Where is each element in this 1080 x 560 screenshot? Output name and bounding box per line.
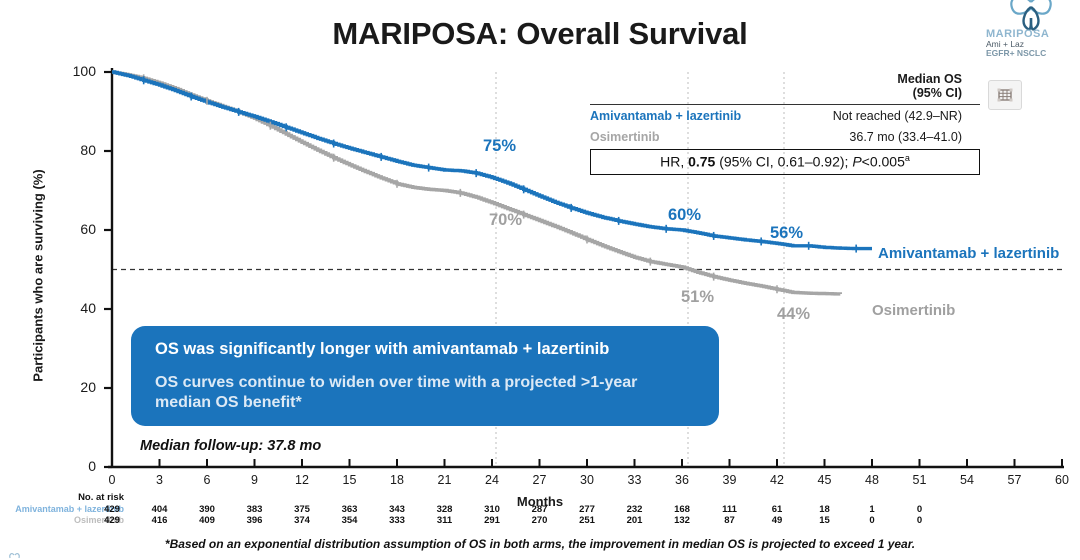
x-axis-ticks <box>112 459 1062 467</box>
risk-cell-r0-m36: 168 <box>665 504 699 515</box>
annotation-gray-44: 44% <box>777 305 810 324</box>
x-tick-0: 0 <box>97 473 127 487</box>
footnote: *Based on an exponential distribution as… <box>0 537 1080 551</box>
x-tick-45: 45 <box>810 473 840 487</box>
risk-cell-r1-m51: 0 <box>903 515 937 526</box>
x-tick-57: 57 <box>1000 473 1030 487</box>
legend-median-value: 36.7 mo (33.4–41.0) <box>849 130 962 144</box>
y-tick-40: 40 <box>62 300 96 316</box>
legend-median-value: Not reached (42.9–NR) <box>833 109 962 123</box>
risk-cell-r1-m48: 0 <box>855 515 889 526</box>
risk-cell-r1-m15: 354 <box>333 515 367 526</box>
x-tick-42: 42 <box>762 473 792 487</box>
x-tick-18: 18 <box>382 473 412 487</box>
annotation-blue-60: 60% <box>668 206 701 225</box>
grid-table-icon <box>996 86 1014 104</box>
legend-row-amivantamab: Amivantamab + lazertinib Not reached (42… <box>590 105 980 126</box>
risk-cell-r0-m21: 328 <box>428 504 462 515</box>
x-tick-51: 51 <box>905 473 935 487</box>
hr-footnote-marker: a <box>905 153 910 163</box>
legend-panel: Median OS (95% CI) Amivantamab + lazerti… <box>590 72 980 175</box>
risk-cell-r0-m0: 429 <box>95 504 129 515</box>
corner-mark-icon <box>8 550 22 560</box>
risk-table-title: No. at risk <box>0 492 124 503</box>
x-tick-21: 21 <box>430 473 460 487</box>
risk-cell-r1-m0: 429 <box>95 515 129 526</box>
risk-cell-r1-m6: 409 <box>190 515 224 526</box>
risk-cell-r0-m45: 18 <box>808 504 842 515</box>
risk-cell-r0-m12: 375 <box>285 504 319 515</box>
x-tick-30: 30 <box>572 473 602 487</box>
callout-secondary-text: OS curves continue to widen over time wi… <box>155 373 697 415</box>
risk-cell-r1-m24: 291 <box>475 515 509 526</box>
curve-label-amivantamab: Amivantamab + lazertinib <box>878 245 1059 262</box>
hr-ci: (95% CI, 0.61–0.92); <box>715 154 852 170</box>
legend-header: Median OS (95% CI) <box>590 72 980 101</box>
x-tick-36: 36 <box>667 473 697 487</box>
risk-cell-r0-m42: 61 <box>760 504 794 515</box>
risk-cell-r1-m30: 251 <box>570 515 604 526</box>
risk-cell-r1-m36: 132 <box>665 515 699 526</box>
legend-row-osimertinib: Osimertinib 36.7 mo (33.4–41.0) <box>590 126 980 147</box>
median-followup-text: Median follow-up: 37.8 mo <box>140 438 321 454</box>
risk-cell-r0-m30: 277 <box>570 504 604 515</box>
risk-cell-r0-m6: 390 <box>190 504 224 515</box>
x-tick-33: 33 <box>620 473 650 487</box>
risk-cell-r0-m51: 0 <box>903 504 937 515</box>
risk-cell-r1-m27: 270 <box>523 515 557 526</box>
risk-cell-r0-m24: 310 <box>475 504 509 515</box>
hr-value: 0.75 <box>688 154 715 170</box>
callout-primary-text: OS was significantly longer with amivant… <box>155 339 697 360</box>
x-tick-54: 54 <box>952 473 982 487</box>
key-message-callout: OS was significantly longer with amivant… <box>131 326 719 426</box>
legend-header-line1: Median OS <box>590 72 962 86</box>
risk-cell-r0-m15: 363 <box>333 504 367 515</box>
x-tick-27: 27 <box>525 473 555 487</box>
risk-cell-r1-m42: 49 <box>760 515 794 526</box>
x-tick-60: 60 <box>1047 473 1077 487</box>
risk-cell-r1-m45: 15 <box>808 515 842 526</box>
annotation-blue-56: 56% <box>770 224 803 243</box>
risk-cell-r1-m3: 416 <box>143 515 177 526</box>
x-tick-15: 15 <box>335 473 365 487</box>
risk-cell-r0-m18: 343 <box>380 504 414 515</box>
y-tick-20: 20 <box>62 379 96 395</box>
risk-cell-r0-m27: 287 <box>523 504 557 515</box>
risk-cell-r1-m39: 87 <box>713 515 747 526</box>
x-tick-24: 24 <box>477 473 507 487</box>
risk-cell-r0-m9: 383 <box>238 504 272 515</box>
risk-cell-r1-m21: 311 <box>428 515 462 526</box>
legend-header-line2: (95% CI) <box>590 86 962 100</box>
y-tick-80: 80 <box>62 142 96 158</box>
annotation-blue-75: 75% <box>483 137 516 156</box>
risk-cell-r1-m9: 396 <box>238 515 272 526</box>
risk-cell-r1-m33: 201 <box>618 515 652 526</box>
annotation-gray-70: 70% <box>489 211 522 230</box>
y-tick-100: 100 <box>62 63 96 79</box>
x-tick-6: 6 <box>192 473 222 487</box>
hr-p-symbol: P <box>852 154 861 170</box>
hr-p-value: <0.005 <box>862 154 905 170</box>
risk-cell-r0-m33: 232 <box>618 504 652 515</box>
y-tick-60: 60 <box>62 221 96 237</box>
x-tick-12: 12 <box>287 473 317 487</box>
risk-cell-r0-m39: 111 <box>713 504 747 515</box>
curve-label-osimertinib: Osimertinib <box>872 302 955 319</box>
x-tick-48: 48 <box>857 473 887 487</box>
risk-cell-r1-m18: 333 <box>380 515 414 526</box>
risk-cell-r0-m48: 1 <box>855 504 889 515</box>
x-tick-39: 39 <box>715 473 745 487</box>
y-tick-0: 0 <box>62 458 96 474</box>
x-tick-9: 9 <box>240 473 270 487</box>
hr-prefix: HR, <box>660 154 688 170</box>
grid-icon[interactable] <box>988 80 1022 110</box>
risk-cell-r0-m3: 404 <box>143 504 177 515</box>
y-axis-label: Participants who are surviving (%) <box>31 96 46 456</box>
legend-arm-name: Amivantamab + lazertinib <box>590 109 741 123</box>
hazard-ratio-box: HR, 0.75 (95% CI, 0.61–0.92); P<0.005a <box>590 149 980 175</box>
slide-root: MARIPOSA: Overall Survival MARIPOSA Ami … <box>0 0 1080 560</box>
annotation-gray-51: 51% <box>681 288 714 307</box>
x-tick-3: 3 <box>145 473 175 487</box>
risk-cell-r1-m12: 374 <box>285 515 319 526</box>
legend-arm-name: Osimertinib <box>590 130 659 144</box>
